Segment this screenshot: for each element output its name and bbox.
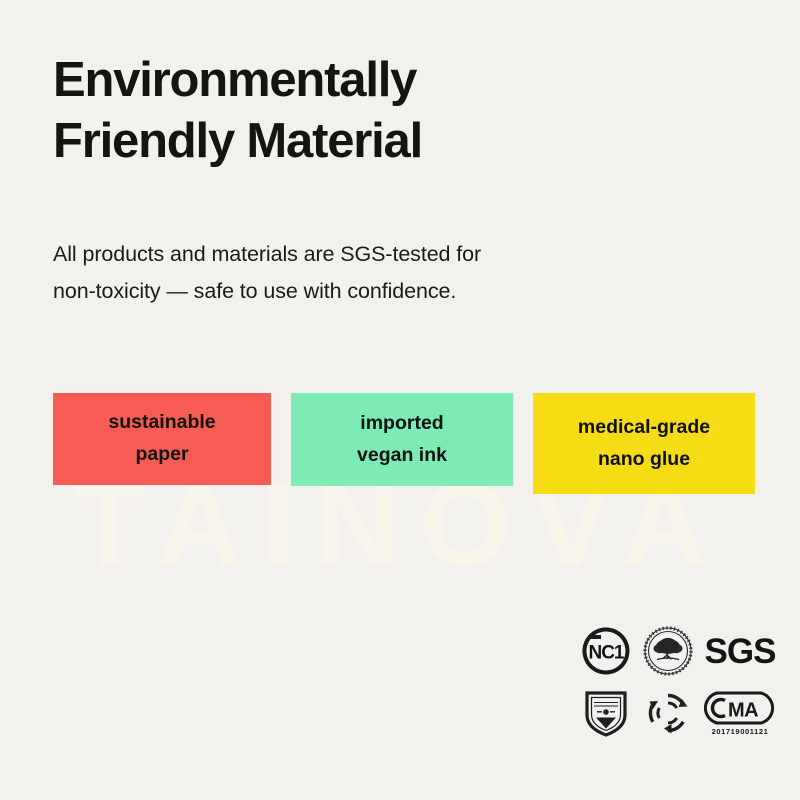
cma-certificate-number: 201719001121: [712, 728, 769, 736]
forest-seal-icon: [637, 620, 699, 682]
shield-icon: [575, 682, 637, 744]
recycle-icon: [637, 682, 699, 744]
nc1-icon: NC1: [575, 620, 637, 682]
chip-label-line-1: imported: [360, 408, 443, 440]
cma-icon: MA 201719001121: [699, 682, 781, 744]
page-title-line-2: Friendly Material: [53, 111, 693, 172]
description-text: All products and materials are SGS-teste…: [53, 236, 653, 310]
chip-label-line-2: vegan ink: [357, 440, 447, 472]
svg-text:NC1: NC1: [588, 643, 624, 664]
material-chip-sustainable-paper: sustainable paper: [53, 393, 271, 485]
description-line-1: All products and materials are SGS-teste…: [53, 236, 653, 273]
description-line-2: non-toxicity — safe to use with confiden…: [53, 273, 653, 310]
sgs-icon: SGS: [699, 620, 781, 682]
chip-label-line-2: paper: [135, 439, 188, 471]
cma-label: MA: [728, 699, 758, 721]
page-title-line-1: Environmentally: [53, 50, 693, 111]
material-chip-imported-vegan-ink: imported vegan ink: [291, 393, 513, 486]
material-chip-medical-grade-nano-glue: medical-grade nano glue: [533, 393, 755, 494]
certification-badge-group: NC1 SGS: [575, 620, 781, 744]
poster-canvas: TAINOVA Environmentally Friendly Materia…: [0, 0, 800, 800]
chip-label-line-1: sustainable: [108, 407, 215, 439]
sgs-label: SGS: [705, 634, 776, 669]
chip-label-line-1: medical-grade: [578, 412, 710, 444]
page-title: Environmentally Friendly Material: [53, 50, 693, 172]
chip-label-line-2: nano glue: [598, 444, 690, 476]
